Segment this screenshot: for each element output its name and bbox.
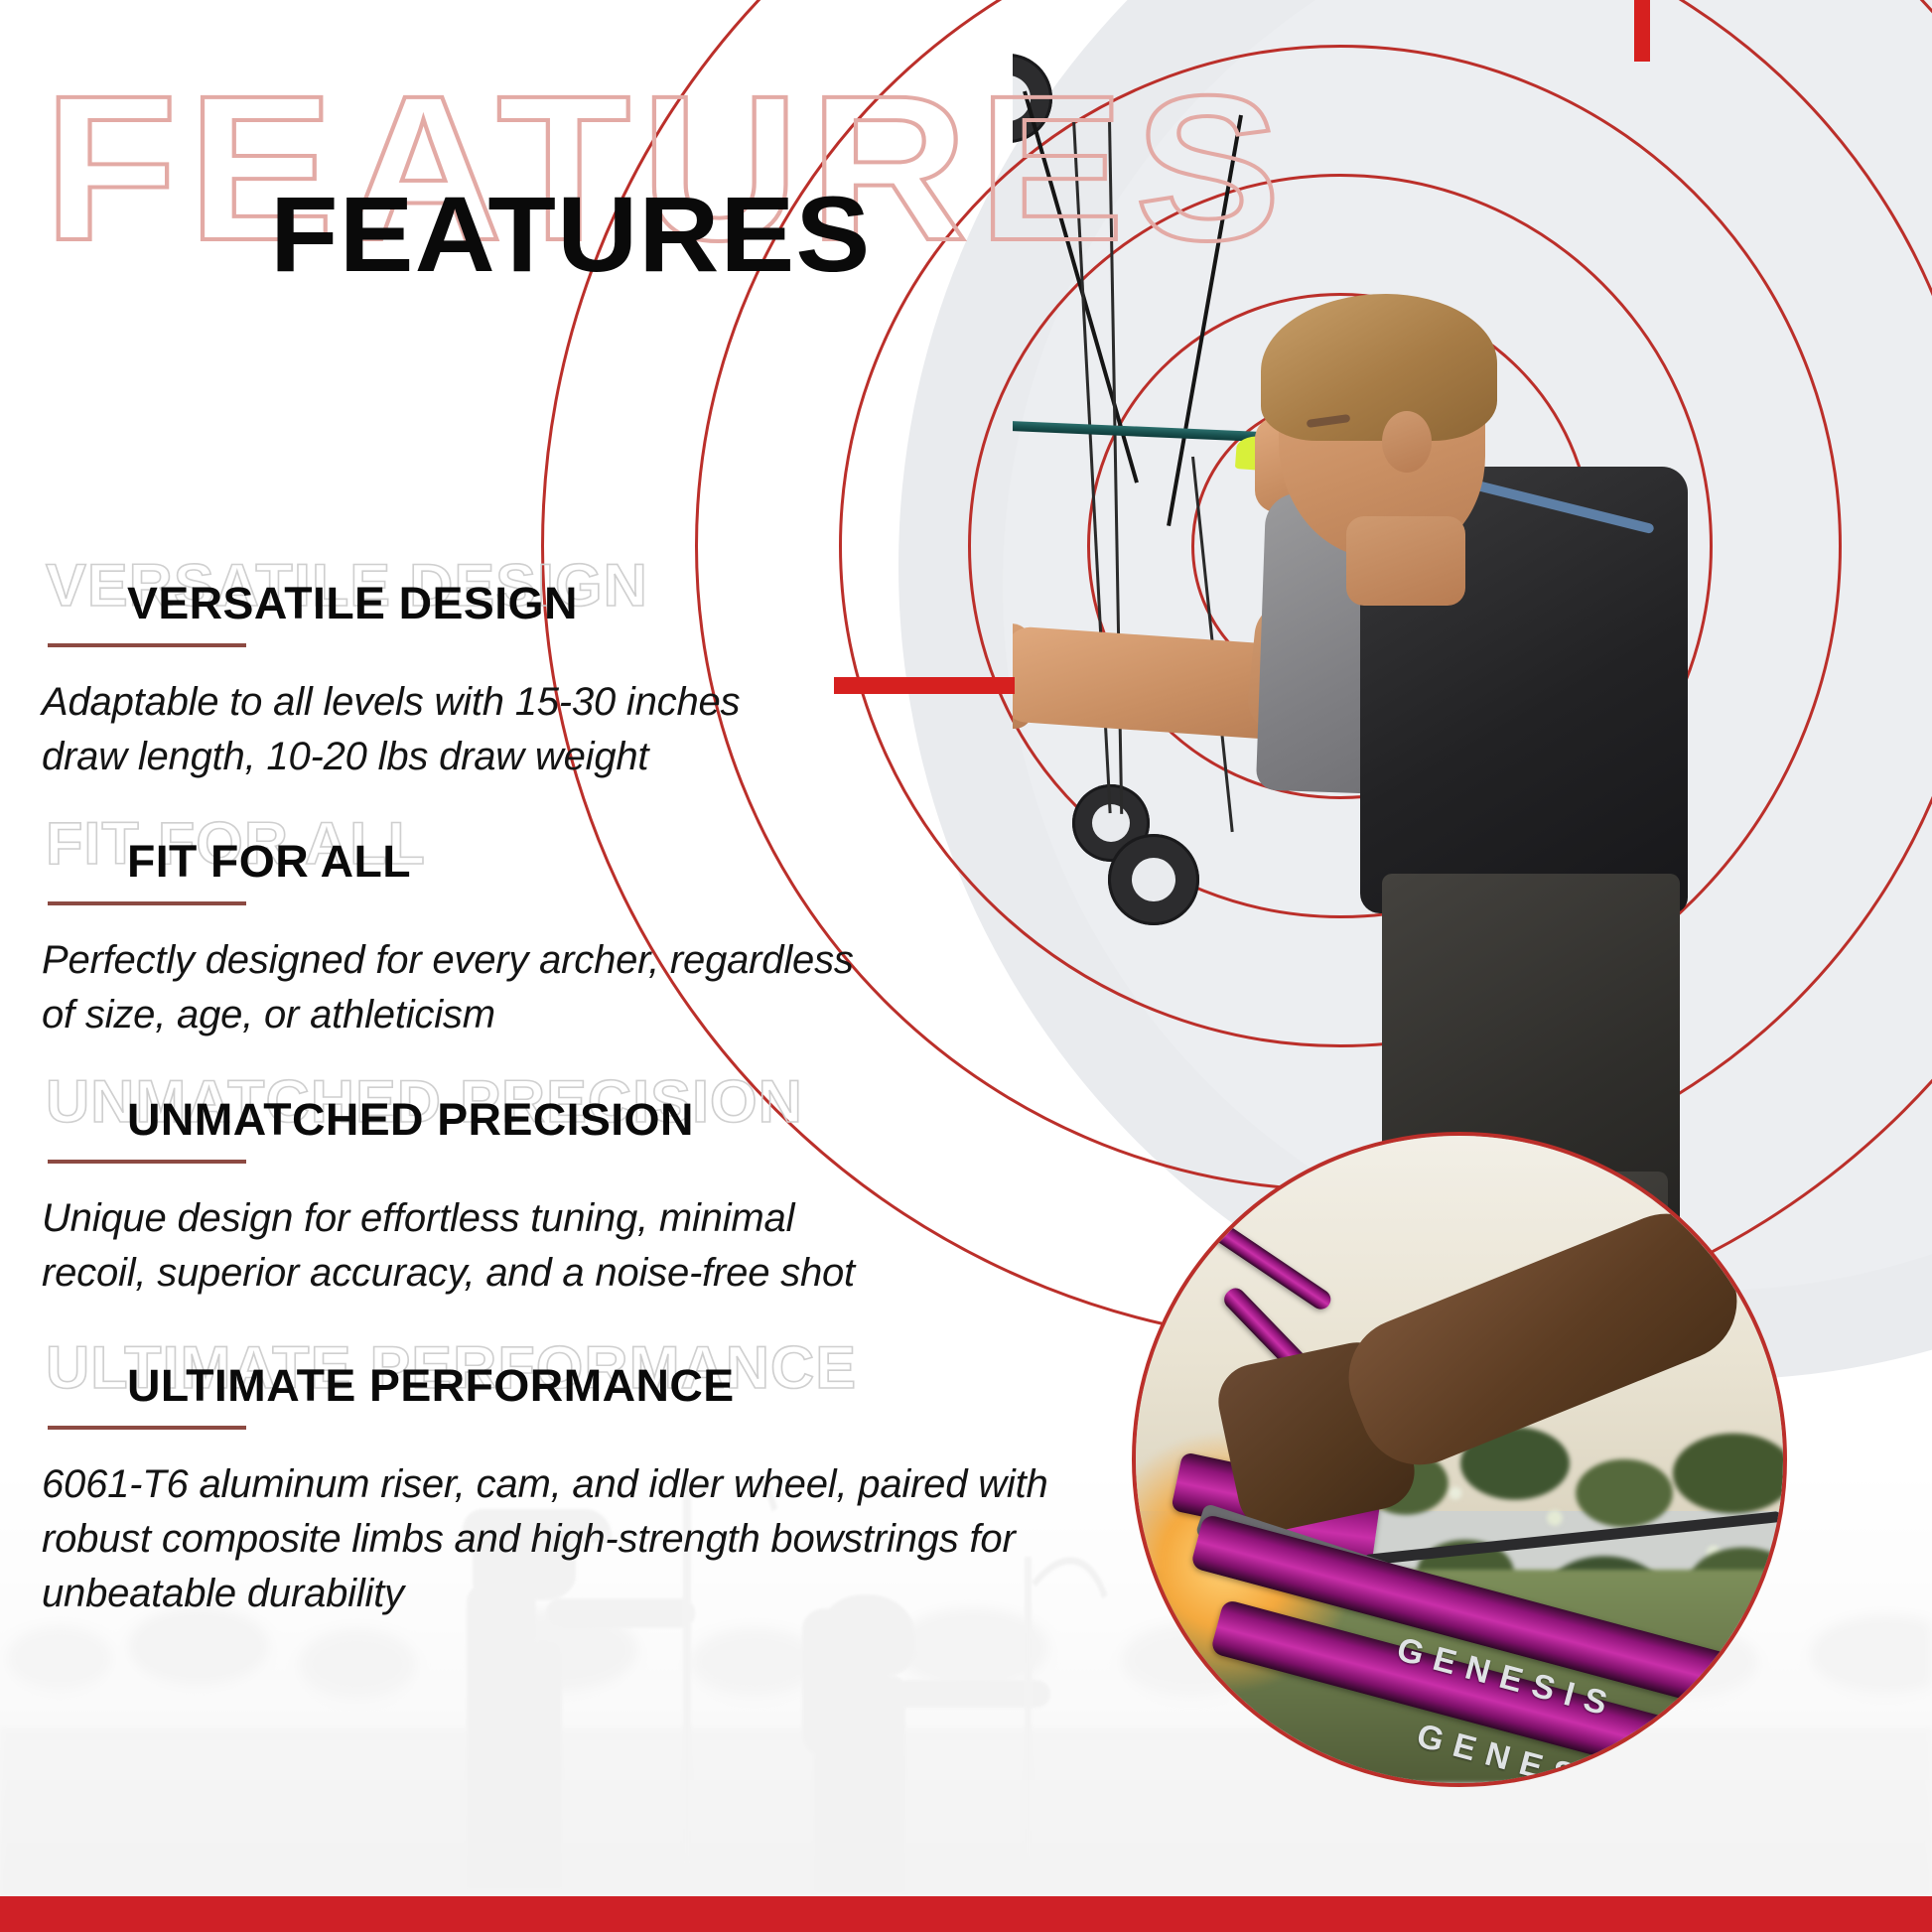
archer-neck [1346,516,1465,606]
page-title: FEATURES [270,181,871,288]
accent-tick-top [1634,0,1650,62]
feature-underline [48,1426,246,1430]
inset-detail-photo: GENESIS ARCHERY GENESIS ARCHERY [1132,1132,1787,1787]
infographic-canvas: GENESIS ARCHERY GENESIS ARCHERY FEATURES… [0,0,1932,1932]
feature-title: VERSATILE DESIGN [127,581,578,625]
bow-cam-lower [1108,834,1199,925]
footer-accent-bar [0,1896,1932,1932]
archer-ear [1382,411,1432,473]
accent-tick-left [834,677,1015,694]
feature-underline [48,1160,246,1164]
feature-underline [48,901,246,905]
feature-underline [48,643,246,647]
feature-title: UNMATCHED PRECISION [127,1097,694,1142]
archer-hair [1261,294,1497,441]
feature-body: Adaptable to all levels with 15-30 inche… [42,675,757,784]
feature-title: ULTIMATE PERFORMANCE [127,1363,735,1408]
feature-body: 6061-T6 aluminum riser, cam, and idler w… [42,1457,1094,1622]
page-title-block: FEATURES FEATURES [0,0,1191,347]
feature-body: Unique design for effortless tuning, min… [42,1191,856,1301]
feature-title: FIT FOR ALL [127,839,411,884]
feature-body: Perfectly designed for every archer, reg… [42,933,856,1042]
